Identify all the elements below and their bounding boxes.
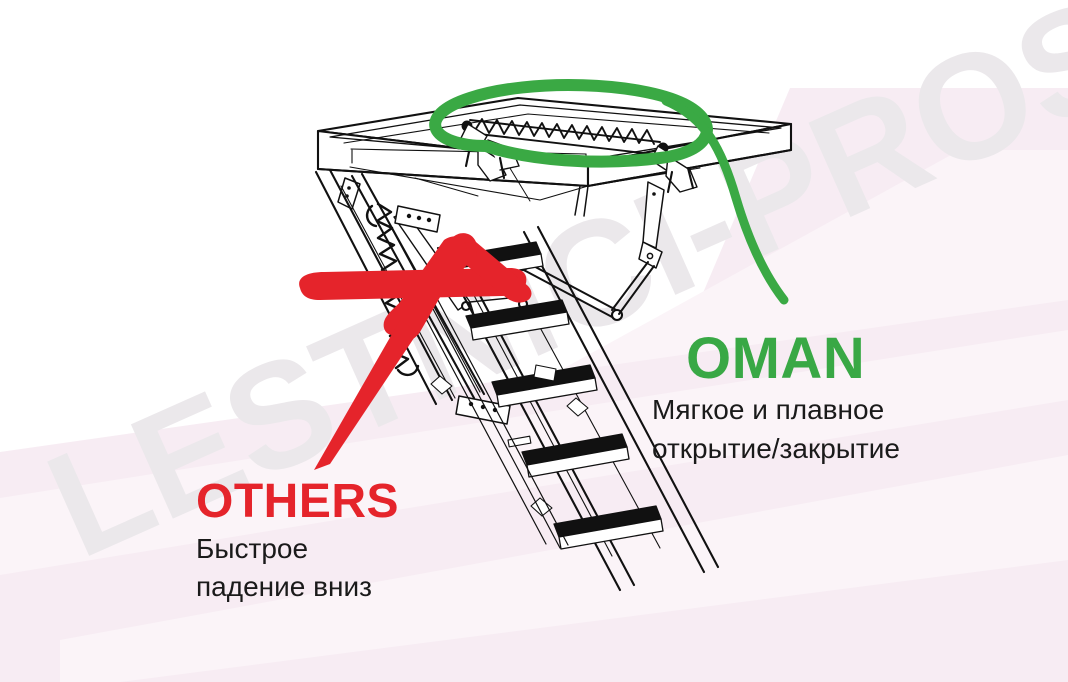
illustration-canvas: LESTNICI-PROSTO.RU bbox=[0, 0, 1068, 682]
oman-description-line-1: Мягкое и плавное bbox=[652, 396, 884, 424]
oman-description-line-2: открытие/закрытие bbox=[652, 435, 900, 463]
others-brand-label: OTHERS bbox=[196, 478, 399, 526]
others-description-line-2: падение вниз bbox=[196, 573, 372, 601]
oman-brand-label: OMAN bbox=[686, 330, 865, 388]
ladder-illustration bbox=[0, 0, 1068, 682]
others-description-line-1: Быстрое bbox=[196, 535, 308, 563]
